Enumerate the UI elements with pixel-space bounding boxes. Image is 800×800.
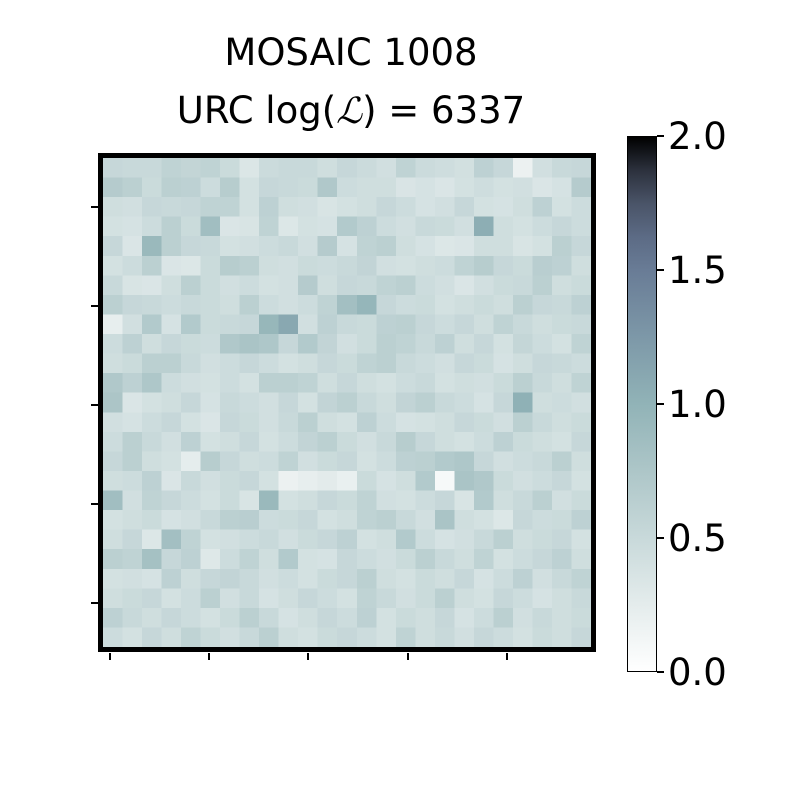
x-axis-tick-0	[109, 653, 111, 660]
x-axis-tick-1	[208, 653, 210, 660]
colorbar-tick-label-1: 1.5	[668, 252, 727, 289]
heatmap-axes	[98, 153, 596, 652]
colorbar-tick-label-3: 0.5	[668, 520, 727, 557]
subtitle: URC log(ℒ) = 6337	[0, 88, 702, 135]
y-axis-tick-4	[91, 602, 98, 604]
y-axis-tick-3	[91, 503, 98, 505]
script-z-symbol: ℒ	[336, 91, 362, 132]
x-axis-tick-3	[407, 653, 409, 660]
colorbar-tick-1	[657, 269, 664, 271]
x-axis-tick-2	[307, 653, 309, 660]
colorbar-tick-3	[657, 537, 664, 539]
colorbar-tick-0	[657, 135, 664, 137]
page-title: MOSAIC 1008	[0, 30, 702, 76]
colorbar-gradient	[628, 137, 656, 671]
subtitle-prefix: URC log(	[177, 89, 336, 132]
heatmap-image	[103, 158, 591, 647]
figure-canvas: MOSAIC 1008 URC log(ℒ) = 6337 2.01.51.00…	[0, 0, 800, 800]
colorbar-tick-2	[657, 403, 664, 405]
subtitle-suffix: ) = 6337	[362, 89, 525, 132]
x-axis-tick-4	[506, 653, 508, 660]
y-axis-tick-1	[91, 305, 98, 307]
colorbar-tick-label-0: 2.0	[668, 118, 727, 155]
colorbar-tick-label-4: 0.0	[668, 654, 727, 691]
y-axis-tick-0	[91, 206, 98, 208]
colorbar	[627, 136, 657, 672]
colorbar-tick-4	[657, 671, 664, 673]
y-axis-tick-2	[91, 404, 98, 406]
colorbar-tick-label-2: 1.0	[668, 386, 727, 423]
